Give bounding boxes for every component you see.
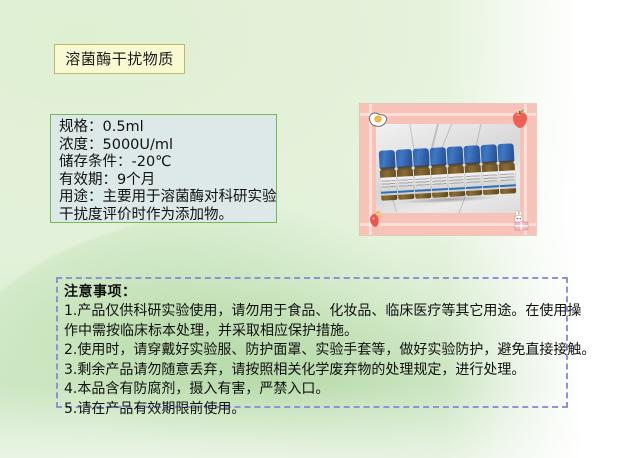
slide-canvas: 溶菌酶干扰物质 规格：0.5ml 浓度：5000U/ml 储存条件：-20℃ 有… [0, 0, 636, 458]
product-photo [376, 124, 520, 213]
vial-row [379, 143, 518, 203]
precautions-box: 注意事项： 1.产品仅供科研实验使用，请勿用于食品、化妆品、临床医疗等其它用途。… [56, 277, 568, 408]
vial [447, 146, 466, 199]
product-photo-frame [360, 104, 536, 235]
spec-line-storage: 储存条件：-20℃ [59, 154, 276, 172]
spec-panel: 规格：0.5ml 浓度：5000U/ml 储存条件：-20℃ 有效期：9个月 用… [50, 114, 277, 223]
vial [430, 147, 449, 200]
precaution-item-1a: 1.产品仅供科研实验使用，请勿用于食品、化妆品、临床医疗等其它用途。在使用操 [64, 302, 566, 322]
apple-icon [508, 108, 532, 130]
spec-line-concentration: 浓度：5000U/ml [59, 137, 276, 155]
vial [396, 149, 415, 202]
product-title-text: 溶菌酶干扰物质 [65, 52, 174, 67]
spec-line-usage-2: 干扰度评价时作为添加物。 [59, 207, 276, 225]
vial [480, 144, 499, 197]
product-title-badge: 溶菌酶干扰物质 [54, 44, 185, 74]
precautions-heading: 注意事项： [64, 283, 566, 302]
vial [497, 143, 516, 196]
precaution-item-4: 4.本品含有防腐剂，摄入有害，严禁入口。 [64, 380, 566, 400]
precaution-item-1b: 作中需按临床标本处理，并采取相应保护措施。 [64, 322, 566, 342]
radish-icon [366, 209, 390, 231]
precaution-item-5: 5.请在产品有效期限前使用。 [64, 400, 566, 420]
rabbit-gift-icon [508, 210, 532, 232]
precaution-item-3: 3.剩余产品请勿随意丢弃，请按照相关化学废弃物的处理规定，进行处理。 [64, 361, 566, 381]
vial [464, 145, 483, 198]
spec-line-specification: 规格：0.5ml [59, 119, 276, 137]
spec-line-usage-1: 用途：主要用于溶菌酶对科研实验 [59, 189, 276, 207]
precaution-item-2: 2.使用时，请穿戴好实验服、防护面罩、实验手套等，做好实验防护，避免直接接触。 [64, 341, 566, 361]
vial [413, 148, 432, 201]
vial [379, 150, 398, 203]
fried-egg-icon [366, 110, 390, 132]
spec-line-shelf-life: 有效期：9个月 [59, 172, 276, 190]
